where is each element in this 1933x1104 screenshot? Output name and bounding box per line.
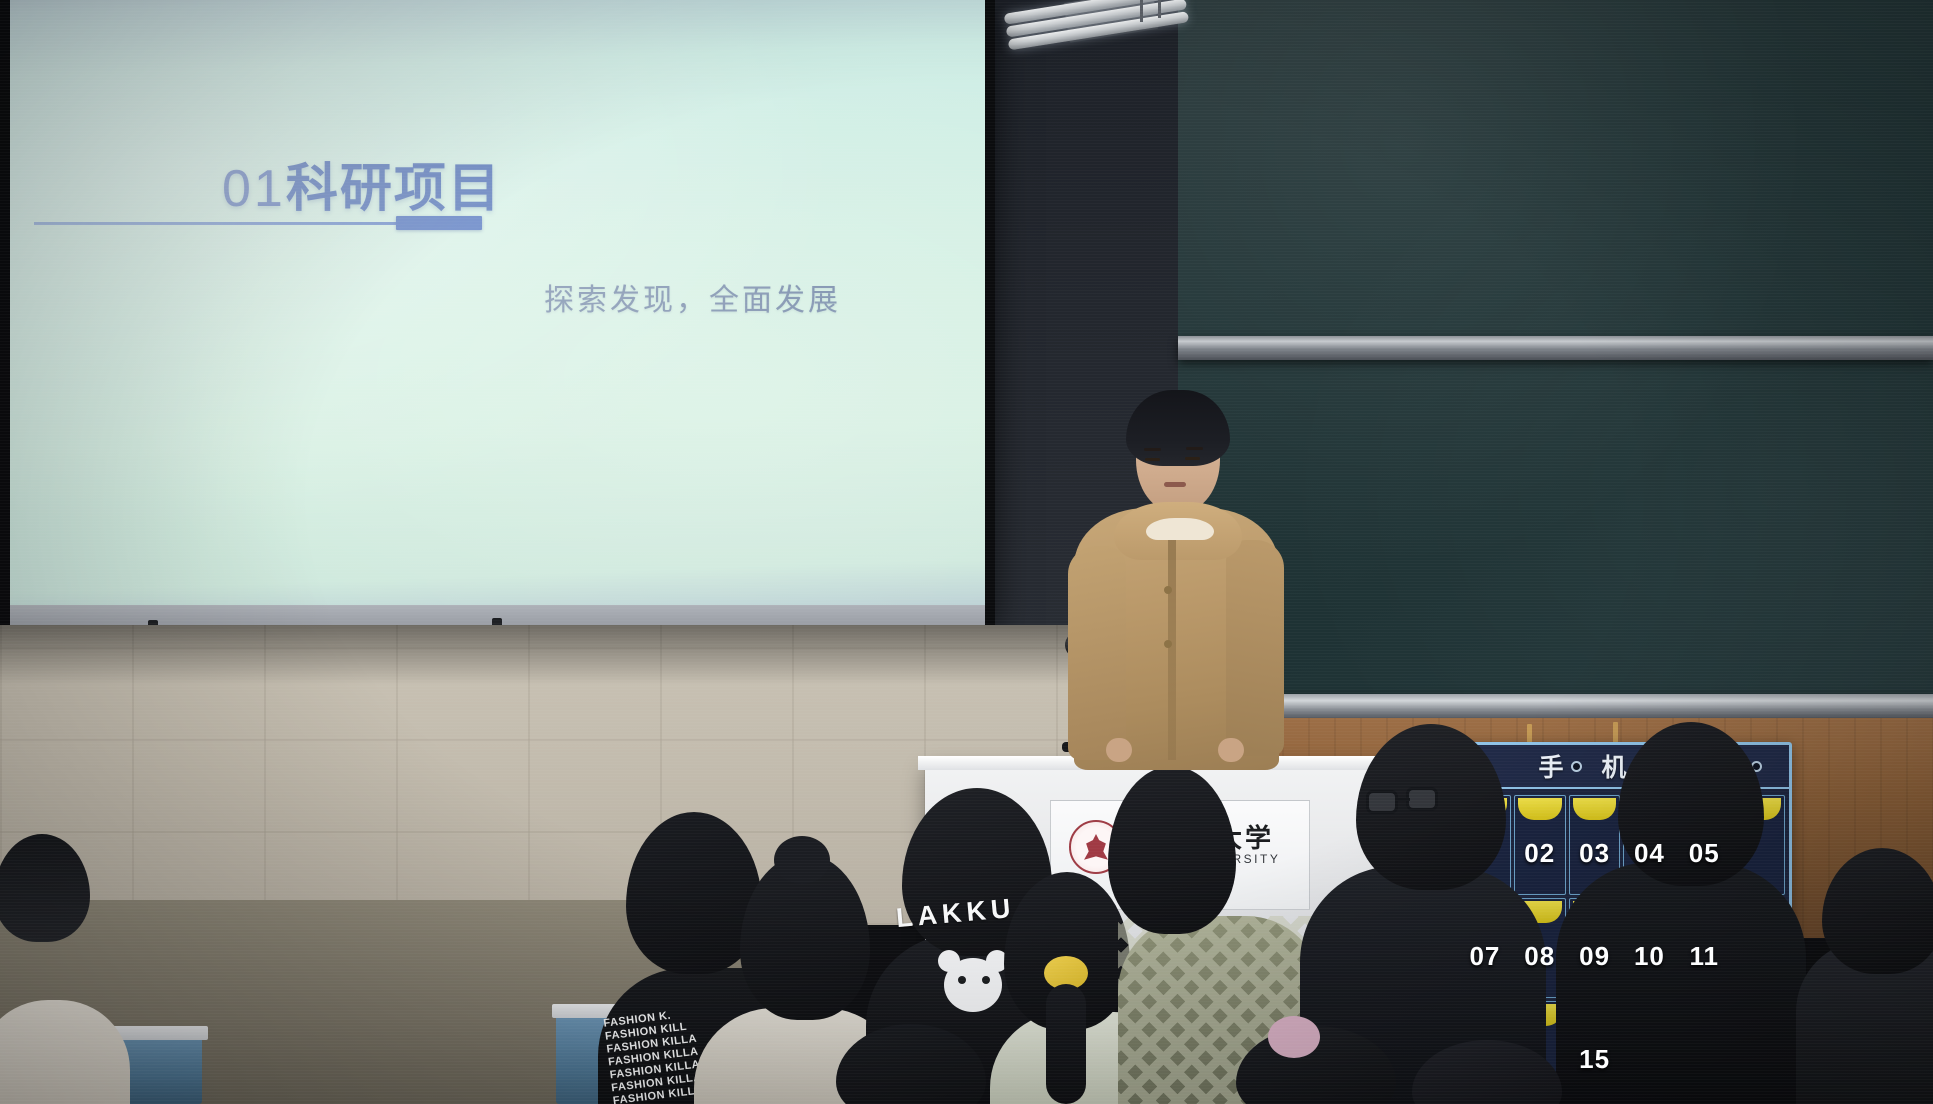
- light-cord: [1158, 0, 1161, 18]
- phone-pocket-number: 04: [1634, 838, 1665, 869]
- slide-subtitle: 探索发现，全面发展: [544, 275, 841, 319]
- eyeglasses-icon: [1366, 790, 1398, 814]
- phone-pocket-02[interactable]: 02: [1514, 795, 1566, 895]
- presenter-eye-right: [1185, 457, 1200, 460]
- hair-bun: [774, 836, 830, 884]
- wall-shadow: [0, 625, 1178, 685]
- presenter-brow-left: [1144, 448, 1161, 451]
- slide-number: 01: [222, 160, 286, 218]
- grommet-icon: [1571, 761, 1582, 772]
- presenter-figure: [1068, 390, 1283, 770]
- chalkboard-upper-rail: [1178, 336, 1933, 360]
- slide-title-text: 科研项目: [286, 160, 502, 218]
- presenter-arm-right: [1226, 540, 1284, 756]
- bear-eye-icon: [982, 976, 990, 984]
- bear-ear-icon: [938, 950, 960, 972]
- presenter-jacket-button: [1164, 640, 1172, 648]
- classroom-photo-scene: 01科研项目 探索发现，全面发展 在这里输入你想搜索的 × 大学 ERSITY: [0, 0, 1933, 1104]
- phone-pocket-number: 02: [1524, 838, 1555, 869]
- phone-pocket-number: 15: [1579, 1044, 1610, 1075]
- presenter-jacket-button: [1164, 586, 1172, 594]
- eyeglasses-icon: [1406, 787, 1438, 811]
- light-cord: [1140, 0, 1143, 22]
- bear-eye-icon: [958, 976, 966, 984]
- chalkboard-chalk-tray: [1178, 694, 1933, 720]
- phone-pocket-number: 10: [1634, 941, 1665, 972]
- phone-pocket-number: 05: [1689, 838, 1720, 869]
- phone-pocket-number: 03: [1579, 838, 1610, 869]
- presenter-hand-left: [1106, 738, 1132, 762]
- ponytail: [1046, 984, 1086, 1104]
- presenter-arm-left: [1068, 546, 1126, 760]
- presenter-hair: [1126, 390, 1230, 466]
- hair-accessory: [1268, 1016, 1320, 1058]
- projection-screen-surface: 01科研项目 探索发现，全面发展: [10, 0, 985, 610]
- presenter-eye-left: [1145, 458, 1160, 461]
- phone-pocket-number: 08: [1524, 941, 1555, 972]
- presenter-jacket-placket: [1168, 540, 1176, 760]
- eyeglasses-bridge-icon: [1398, 798, 1410, 801]
- presenter-inner-collar: [1146, 518, 1214, 540]
- slide-title: 01科研项目: [222, 146, 502, 221]
- presenter-brow-right: [1186, 447, 1203, 450]
- slide-title-accent-bar: [396, 216, 482, 230]
- projection-screen-frame: 01科研项目 探索发现，全面发展: [0, 0, 995, 625]
- presenter-mouth: [1164, 482, 1186, 487]
- phone-pocket-number: 07: [1469, 941, 1500, 972]
- presenter-hand-right: [1218, 738, 1244, 762]
- phone-pocket-number: 11: [1689, 941, 1719, 972]
- phone-pocket-number: 09: [1579, 941, 1610, 972]
- seal-emblem-icon: [1083, 834, 1109, 862]
- hoodie-graphic-text: FASHION K. FASHION KILL FASHION KILLA FA…: [603, 1007, 704, 1104]
